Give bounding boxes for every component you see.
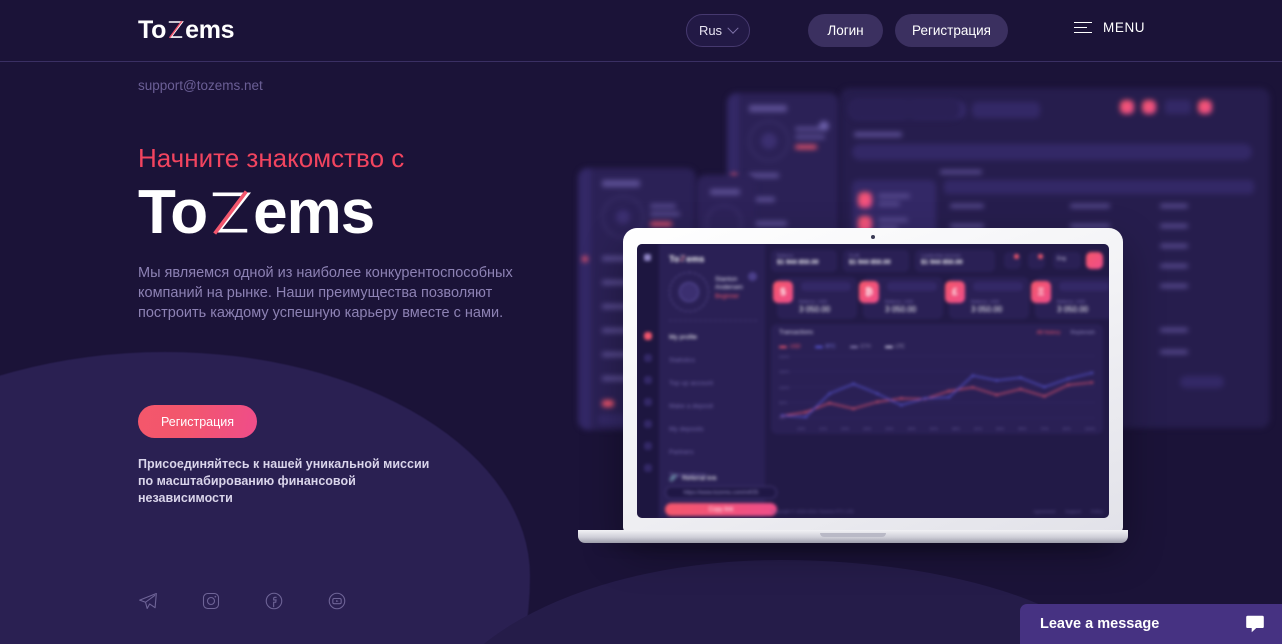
hero-note: Присоединяйтесь к нашей уникальной мисси… — [138, 456, 438, 507]
support-email[interactable]: support@tozems.net — [138, 78, 263, 93]
dashboard-gear-icon[interactable] — [748, 272, 757, 281]
logo-z-icon — [679, 255, 686, 262]
footer-link-agreement[interactable]: Agreement — [1033, 509, 1055, 514]
logout-icon[interactable] — [1086, 252, 1103, 269]
dashboard-menu-item-partners[interactable]: Partners — [669, 445, 713, 460]
laptop-base — [578, 530, 1128, 543]
youtube-icon[interactable] — [327, 591, 347, 611]
chart-actions: All history Replenish — [1037, 330, 1095, 336]
dashboard-menu-item-top-up[interactable]: Top up account — [669, 376, 713, 391]
chart-x-tick: 50% — [996, 426, 1004, 431]
chat-label: Leave a message — [1040, 616, 1159, 632]
wallet-card-usd[interactable]: $ Balance, USD 3 050.00 — [777, 277, 857, 319]
legend-btc: BTC — [815, 344, 836, 350]
register-button-header[interactable]: Регистрация — [895, 14, 1008, 47]
chart-x-tick: 55% — [1018, 426, 1026, 431]
dashboard-logo: To ems — [669, 254, 704, 264]
wallet-card-eth[interactable]: Ξ Balance, USD 3 050.00 — [1035, 277, 1109, 319]
dashboard-logo-suffix: ems — [686, 254, 704, 264]
dashboard-app: To ems — [637, 244, 1109, 518]
dashboard-menu-item-my-profile[interactable]: My profile — [669, 330, 713, 345]
chart-x-tick: 38% — [952, 426, 960, 431]
dashboard-sidebar: To ems — [659, 244, 765, 518]
chart-x-tick: 30% — [907, 426, 915, 431]
chart-plot — [779, 354, 1095, 420]
register-button-hero[interactable]: Регистрация — [138, 405, 257, 438]
dashboard-referral-url[interactable]: https://www.tozems.com/ref/25 — [665, 486, 777, 499]
laptop-lid: To ems — [623, 228, 1123, 533]
dashboard-menu-item-make-deposit[interactable]: Make a deposit — [669, 399, 713, 414]
social-links — [138, 591, 347, 611]
currency-icon-gbp: £ — [945, 281, 965, 303]
currency-icon-btc: ₿ — [859, 281, 879, 303]
chart-x-tick: 104% — [1085, 426, 1095, 431]
dashboard-avatar — [669, 272, 709, 312]
wallet-card-gbp[interactable]: £ Balance, USD 3 050.00 — [949, 277, 1029, 319]
chart-x-tick: 29% — [885, 426, 893, 431]
legend-usd: USD — [779, 344, 801, 350]
dashboard-stat-turnover: Leadership turnover $1 944 850.00 — [915, 250, 995, 272]
dashboard-user-rank: Beginner — [715, 294, 739, 300]
chart-title: Transactions — [779, 330, 813, 336]
chart-x-tick: 32% — [930, 426, 938, 431]
hero-title-suffix: ems — [253, 182, 374, 244]
legend-ltc: LTC — [885, 344, 905, 350]
background-stat-strip — [848, 98, 960, 120]
laptop-screen: To ems — [637, 244, 1109, 518]
chart-x-tick: 92% — [1063, 426, 1071, 431]
chat-bubble-icon — [1244, 613, 1266, 635]
hero-paragraph: Мы являемся одной из наиболее конкуренто… — [138, 263, 513, 323]
dashboard-referral-label: 🔗 Referral link — [669, 474, 717, 482]
dashboard-user-name: Stanton Andersen — [715, 276, 743, 292]
hero-subtitle: Начните знакомство с — [138, 143, 404, 174]
chart-x-tick: 41% — [974, 426, 982, 431]
footer-link-support[interactable]: Support — [1065, 509, 1081, 514]
dashboard-main: Balance $1 944 850.00 Profit $1 944 850.… — [765, 244, 1109, 518]
menu-label: MENU — [1103, 20, 1145, 35]
chart-legend: USD BTC ETH LTC — [779, 344, 905, 350]
currency-icon-eth: Ξ — [1031, 281, 1051, 303]
bell-icon[interactable] — [1004, 252, 1021, 269]
footer-link-policy[interactable]: Policy — [1091, 509, 1103, 514]
chart-x-tick: 70% — [1040, 426, 1048, 431]
chevron-down-icon — [727, 22, 738, 33]
chart-x-tick: 20% — [841, 426, 849, 431]
hero-title: To ems — [138, 182, 374, 244]
dashboard-stat-profit: Profit $1 944 850.00 — [843, 250, 909, 272]
dashboard-icon-rail — [637, 244, 659, 518]
login-button[interactable]: Логин — [808, 14, 883, 47]
facebook-icon[interactable] — [264, 591, 284, 611]
instagram-icon[interactable] — [201, 591, 221, 611]
dashboard-chart-panel: Transactions All history Replenish USD B… — [771, 324, 1103, 434]
laptop-camera — [871, 235, 875, 239]
chart-action-all-history[interactable]: All history — [1037, 330, 1061, 336]
chart-x-tick: 10% — [797, 426, 805, 431]
wallet-card-btc[interactable]: ₿ Balance, USD 3 050.00 — [863, 277, 943, 319]
language-selector[interactable]: Rus — [686, 14, 750, 47]
chart-line-usd — [782, 383, 1092, 416]
chart-x-tick: 11% — [819, 426, 827, 431]
chat-widget[interactable]: Leave a message — [1020, 604, 1282, 644]
site-logo[interactable]: To ems — [138, 18, 234, 43]
mail-icon[interactable] — [1028, 252, 1045, 269]
dashboard-copyright: Copyright © 2020-2021 Tozems PTY LTD — [771, 509, 854, 514]
chart-x-tick: 25% — [863, 426, 871, 431]
site-header: To ems Rus Логин Регистрация MENU — [0, 0, 1282, 62]
logo-z-icon — [166, 20, 185, 39]
legend-eth: ETH — [850, 344, 871, 350]
currency-icon-usd: $ — [773, 281, 793, 303]
laptop-mockup: To ems — [578, 228, 1128, 553]
hamburger-icon — [1074, 22, 1092, 34]
menu-toggle[interactable]: MENU — [1074, 20, 1145, 35]
chart-svg — [779, 354, 1095, 420]
telegram-icon[interactable] — [138, 591, 158, 611]
dashboard-stat-balance: Balance $1 944 850.00 — [771, 250, 837, 272]
logo-suffix: ems — [185, 18, 234, 43]
dashboard-copy-link-button[interactable]: Copy link — [665, 503, 777, 516]
chart-x-axis: 10%11%20%25%29%30%32%38%41%50%55%70%92%1… — [797, 426, 1095, 431]
language-label: Rus — [699, 23, 722, 38]
dashboard-footer: Copyright © 2020-2021 Tozems PTY LTD Agr… — [771, 509, 1103, 514]
dashboard-wallet-cards: $ Balance, USD 3 050.00 ₿ Balance, USD — [771, 277, 1103, 319]
hero-title-prefix: To — [138, 182, 207, 244]
dashboard-menu: My profile Statistics Top up account Mak… — [669, 330, 713, 491]
page-root: To ems — [0, 0, 1282, 644]
logo-prefix: To — [138, 18, 166, 43]
dashboard-menu-item-my-deposits[interactable]: My deposits — [669, 422, 713, 437]
dashboard-lang-select[interactable]: Eng — [1053, 252, 1081, 269]
dashboard-logo-prefix: To — [669, 254, 679, 264]
dashboard-topbar: Balance $1 944 850.00 Profit $1 944 850.… — [771, 250, 1103, 272]
dashboard-menu-item-statistics[interactable]: Statistics — [669, 353, 713, 368]
link-icon: 🔗 — [669, 474, 677, 482]
logo-z-icon — [207, 189, 253, 236]
chart-action-replenish[interactable]: Replenish — [1071, 330, 1095, 336]
